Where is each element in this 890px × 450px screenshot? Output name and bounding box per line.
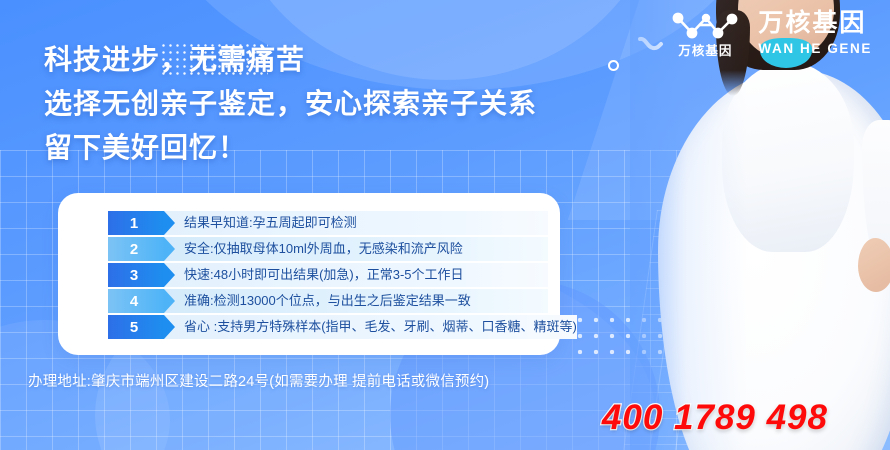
- promo-banner: 万核基因 万核基因 WAN HE GENE 科技进步，无需痛苦 选择无创亲子鉴定…: [0, 0, 890, 450]
- photo-torso: [722, 62, 854, 252]
- photo-dress: [658, 70, 890, 450]
- feature-row: 3 快速:48小时即可出结果(加急)，正常3-5个工作日: [108, 263, 548, 287]
- photo-arm: [862, 120, 890, 270]
- logo-name-cn: 万核基因: [758, 11, 872, 36]
- decor-swoosh-icon: [638, 36, 664, 54]
- feature-text: 快速:48小时即可出结果(加急)，正常3-5个工作日: [164, 263, 548, 287]
- office-address: 办理地址:肇庆市端州区建设二路24号(如需要办理 提前电话或微信预约): [28, 370, 489, 391]
- feature-number-chip: 2: [108, 237, 164, 261]
- hotline-number[interactable]: 400 1789 498: [602, 398, 828, 438]
- feature-text: 省心 :支持男方特殊样本(指甲、毛发、牙刷、烟蒂、口香糖、精斑等): [164, 315, 577, 339]
- feature-row: 5 省心 :支持男方特殊样本(指甲、毛发、牙刷、烟蒂、口香糖、精斑等): [108, 315, 548, 339]
- photo-hand: [858, 238, 890, 292]
- molecule-icon: 万核基因: [666, 8, 744, 58]
- feature-number-chip: 1: [108, 211, 164, 235]
- photo-edge-fade: [630, 0, 890, 450]
- feature-row: 2 安全:仅抽取母体10ml外周血，无感染和流产风险: [108, 237, 548, 261]
- feature-number-chip: 3: [108, 263, 164, 287]
- brand-logo[interactable]: 万核基因 万核基因 WAN HE GENE: [666, 8, 872, 58]
- pregnant-woman-photo: [630, 0, 890, 450]
- decor-ring-icon: [608, 60, 619, 71]
- feature-number-chip: 5: [108, 315, 164, 339]
- headline-line-1-text: 科技进步，无需痛苦: [44, 44, 305, 75]
- feature-number-chip: 4: [108, 289, 164, 313]
- feature-text: 准确:检测13000个位点，与出生之后鉴定结果一致: [164, 289, 548, 313]
- feature-row: 1 结果早知道:孕五周起即可检测: [108, 211, 548, 235]
- headline-line-2: 选择无创亲子鉴定，安心探索亲子关系: [44, 84, 537, 124]
- feature-text: 安全:仅抽取母体10ml外周血，无感染和流产风险: [164, 237, 548, 261]
- decor-dot-matrix: [572, 312, 707, 362]
- headline-line-3: 留下美好回忆！: [44, 128, 537, 168]
- feature-list: 1 结果早知道:孕五周起即可检测 2 安全:仅抽取母体10ml外周血，无感染和流…: [108, 211, 548, 339]
- logo-mark-label: 万核基因: [666, 40, 744, 59]
- feature-text: 结果早知道:孕五周起即可检测: [164, 211, 548, 235]
- logo-name-en: WAN HE GENE: [758, 42, 872, 56]
- headline-line-1: 科技进步，无需痛苦: [44, 40, 537, 80]
- feature-card: 1 结果早知道:孕五周起即可检测 2 安全:仅抽取母体10ml外周血，无感染和流…: [58, 193, 560, 355]
- headline-block: 科技进步，无需痛苦 选择无创亲子鉴定，安心探索亲子关系 留下美好回忆！: [44, 40, 537, 168]
- feature-row: 4 准确:检测13000个位点，与出生之后鉴定结果一致: [108, 289, 548, 313]
- logo-text-block: 万核基因 WAN HE GENE: [758, 11, 872, 56]
